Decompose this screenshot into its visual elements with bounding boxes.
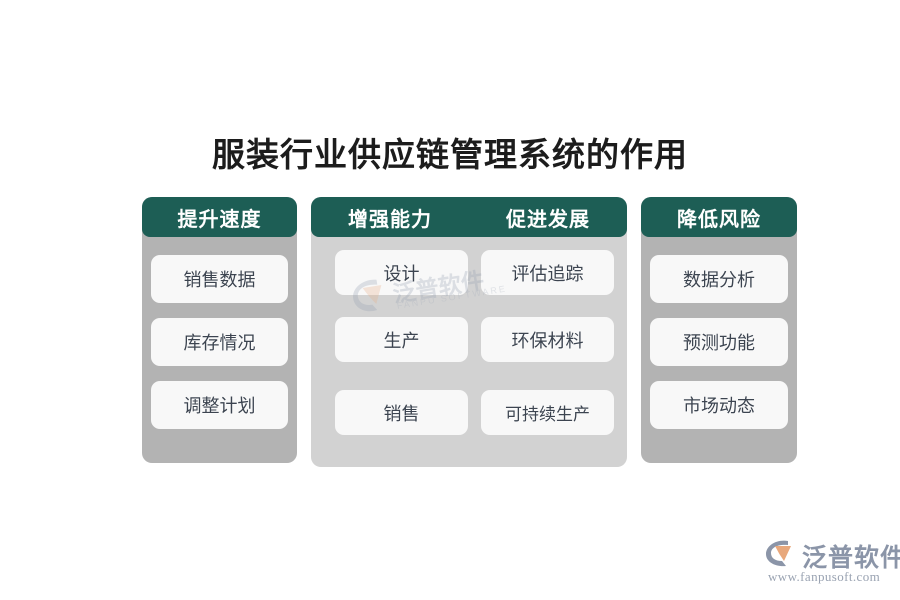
list-item[interactable]: 评估追踪 <box>481 250 614 295</box>
fanpu-logo-icon <box>764 538 798 568</box>
list-item[interactable]: 设计 <box>335 250 468 295</box>
panel-header-label: 提升速度 <box>142 203 297 232</box>
panel-improve-speed: 提升速度 销售数据 库存情况 调整计划 <box>142 197 297 463</box>
panel-header-improve-speed: 提升速度 <box>142 197 297 237</box>
panel-header-capability-development: 增强能力 促进发展 <box>311 197 627 237</box>
list-item[interactable]: 生产 <box>335 317 468 362</box>
list-item[interactable]: 销售数据 <box>151 255 288 303</box>
panel-capability-development: 增强能力 促进发展 设计 生产 销售 评估追踪 环保材料 可持续生产 <box>311 197 627 467</box>
list-item[interactable]: 市场动态 <box>650 381 788 429</box>
list-item[interactable]: 可持续生产 <box>481 390 614 435</box>
brand-url: www.fanpusoft.com <box>768 569 880 585</box>
brand-logo: 泛普软件 www.fanpusoft.com <box>762 536 894 588</box>
panel-header-label: 增强能力 <box>311 203 469 232</box>
list-item[interactable]: 调整计划 <box>151 381 288 429</box>
list-item[interactable]: 环保材料 <box>481 317 614 362</box>
list-item[interactable]: 预测功能 <box>650 318 788 366</box>
panel-header-label: 促进发展 <box>469 203 627 232</box>
panel-header-label: 降低风险 <box>641 203 797 232</box>
page-title: 服装行业供应链管理系统的作用 <box>0 128 900 176</box>
list-item[interactable]: 销售 <box>335 390 468 435</box>
slide-canvas: 服装行业供应链管理系统的作用 提升速度 销售数据 库存情况 调整计划 增强能力 … <box>0 0 900 600</box>
list-item[interactable]: 库存情况 <box>151 318 288 366</box>
panel-header-reduce-risk: 降低风险 <box>641 197 797 237</box>
panel-reduce-risk: 降低风险 数据分析 预测功能 市场动态 <box>641 197 797 463</box>
list-item[interactable]: 数据分析 <box>650 255 788 303</box>
